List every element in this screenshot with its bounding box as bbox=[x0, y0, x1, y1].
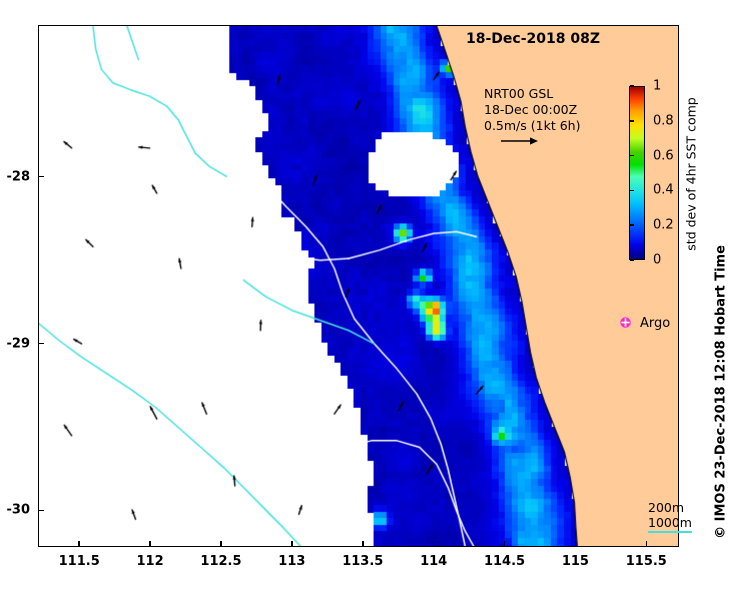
colorbar-tick-label: 0.4 bbox=[653, 183, 674, 198]
y-tick-mark bbox=[38, 176, 44, 178]
bathymetry-legend: 200m 1000m bbox=[648, 500, 692, 533]
x-tick-mark bbox=[291, 541, 293, 547]
vector-legend-line-2: 18-Dec 00:00Z bbox=[484, 102, 580, 118]
x-tick-label: 112 bbox=[137, 554, 164, 569]
x-tick-label: 114 bbox=[420, 554, 447, 569]
colorbar-tick-mark bbox=[630, 155, 634, 157]
colorbar-tick-mark bbox=[630, 85, 634, 87]
vector-legend-line-3: 0.5m/s (1kt 6h) bbox=[484, 118, 580, 134]
x-tick-mark bbox=[362, 541, 364, 547]
colorbar-tick-label: 0 bbox=[653, 253, 661, 268]
x-tick-label: 111.5 bbox=[59, 554, 100, 569]
x-tick-mark bbox=[78, 541, 80, 547]
figure-root: 18-Dec-2018 08Z NRT00 GSL 18-Dec 00:00Z … bbox=[0, 0, 739, 592]
x-tick-mark bbox=[433, 541, 435, 547]
x-tick-label: 115.5 bbox=[626, 554, 667, 569]
colorbar-tick-label: 1 bbox=[653, 79, 661, 94]
colorbar-tick-mark bbox=[630, 120, 634, 122]
map-plot-frame bbox=[38, 25, 679, 547]
x-tick-mark bbox=[220, 541, 222, 547]
colorbar-gradient bbox=[629, 86, 645, 260]
timestamp-title: 18-Dec-2018 08Z bbox=[466, 31, 600, 47]
vector-scale-arrow-icon bbox=[500, 135, 580, 151]
x-tick-mark bbox=[504, 541, 506, 547]
y-tick-label: -29 bbox=[7, 336, 31, 351]
argo-legend-label: Argo bbox=[640, 316, 670, 331]
imos-credit: © IMOS 23-Dec-2018 12:08 Hobart Time bbox=[714, 245, 729, 539]
argo-legend: Argo bbox=[619, 314, 670, 333]
y-tick-mark bbox=[38, 343, 44, 345]
colorbar-tick-mark bbox=[630, 224, 634, 226]
y-tick-label: -30 bbox=[7, 503, 31, 518]
x-tick-label: 114.5 bbox=[484, 554, 525, 569]
x-tick-mark bbox=[575, 541, 577, 547]
x-tick-mark bbox=[646, 541, 648, 547]
y-tick-mark bbox=[38, 510, 44, 512]
colorbar-tick-mark bbox=[630, 190, 634, 192]
x-tick-mark bbox=[149, 541, 151, 547]
colorbar-tick-label: 0.2 bbox=[653, 218, 674, 233]
argo-marker-icon bbox=[619, 314, 632, 333]
colorbar-tick-mark bbox=[630, 259, 634, 261]
x-tick-label: 112.5 bbox=[200, 554, 241, 569]
x-tick-label: 115 bbox=[562, 554, 589, 569]
colorbar-axis-title: std dev of 4hr SST comp bbox=[684, 97, 699, 250]
colorbar-tick-label: 0.8 bbox=[653, 113, 674, 128]
current-vector-legend: NRT00 GSL 18-Dec 00:00Z 0.5m/s (1kt 6h) bbox=[484, 86, 580, 151]
sst-stddev-heatmap bbox=[39, 26, 678, 546]
depth-1000m-color-swatch bbox=[648, 531, 692, 533]
vector-legend-line-1: NRT00 GSL bbox=[484, 86, 580, 102]
y-tick-label: -28 bbox=[7, 169, 31, 184]
colorbar-tick-label: 0.6 bbox=[653, 148, 674, 163]
depth-1000m-label: 1000m bbox=[648, 515, 692, 530]
x-tick-label: 113.5 bbox=[342, 554, 383, 569]
depth-200m-label: 200m bbox=[648, 500, 692, 515]
x-tick-label: 113 bbox=[278, 554, 305, 569]
